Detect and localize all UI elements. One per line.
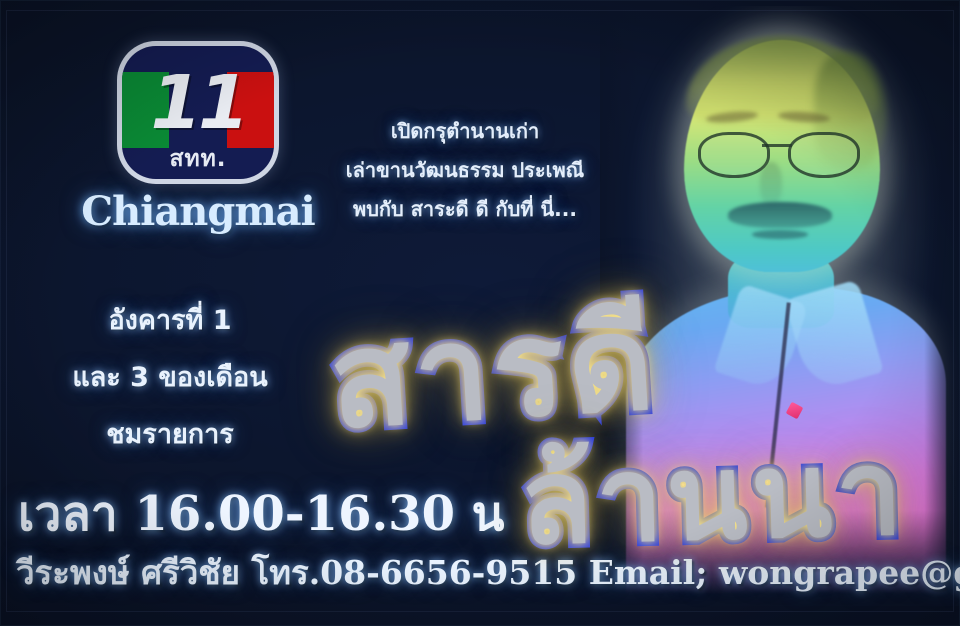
schedule-line-1: อังคารที่ 1	[20, 292, 320, 349]
promo-poster: 11 สทท. Chiangmai เปิดกรุตำนานเก่า เล่าข…	[0, 0, 960, 626]
host-portrait	[600, 6, 960, 606]
logo-channel-number: 11	[122, 60, 274, 146]
schedule-line-2: และ 3 ของเดือน	[20, 349, 320, 406]
portrait-edge-fade	[600, 6, 960, 606]
logo-thai-abbrev: สทท.	[122, 146, 274, 172]
tagline-line-2: เล่าขานวัฒนธรรม ประเพณี	[300, 151, 630, 190]
tagline-block: เปิดกรุตำนานเก่า เล่าขานวัฒนธรรม ประเพณี…	[300, 112, 630, 229]
channel-11-logo-icon: 11 สทท.	[122, 46, 274, 179]
contact-info: วีระพงษ์ ศรีวิชัย โทร.08-6656-9515 Email…	[16, 546, 960, 599]
tagline-line-1: เปิดกรุตำนานเก่า	[300, 112, 630, 151]
schedule-block: อังคารที่ 1 และ 3 ของเดือน ชมรายการ	[20, 292, 320, 463]
tagline-line-3: พบกับ สาระดี ดี กับที่ นี่...	[300, 190, 630, 229]
schedule-line-3: ชมรายการ	[20, 406, 320, 463]
broadcast-time: เวลา 16.00-16.30 น	[18, 476, 505, 552]
channel-logo-block: 11 สทท. Chiangmai	[78, 46, 318, 235]
logo-city-caption: Chiangmai	[78, 188, 318, 235]
